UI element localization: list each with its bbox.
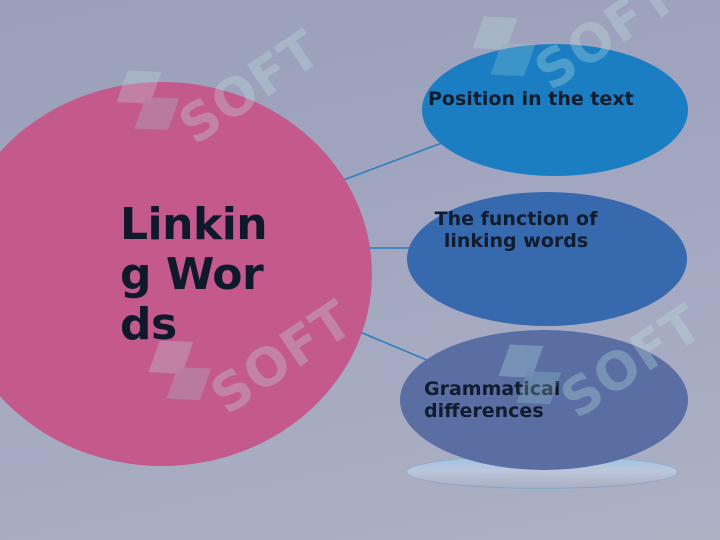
center-node-label: Linking Words xyxy=(120,200,286,350)
connector-line-position xyxy=(338,138,455,182)
branch-node-grammar[interactable] xyxy=(400,330,688,470)
branch-node-position[interactable] xyxy=(422,44,688,176)
branch-node-function[interactable] xyxy=(407,192,687,326)
center-node-linking-words[interactable]: Linking Words xyxy=(0,82,372,466)
slide-canvas: Linking Words Position in the text The f… xyxy=(0,0,720,540)
